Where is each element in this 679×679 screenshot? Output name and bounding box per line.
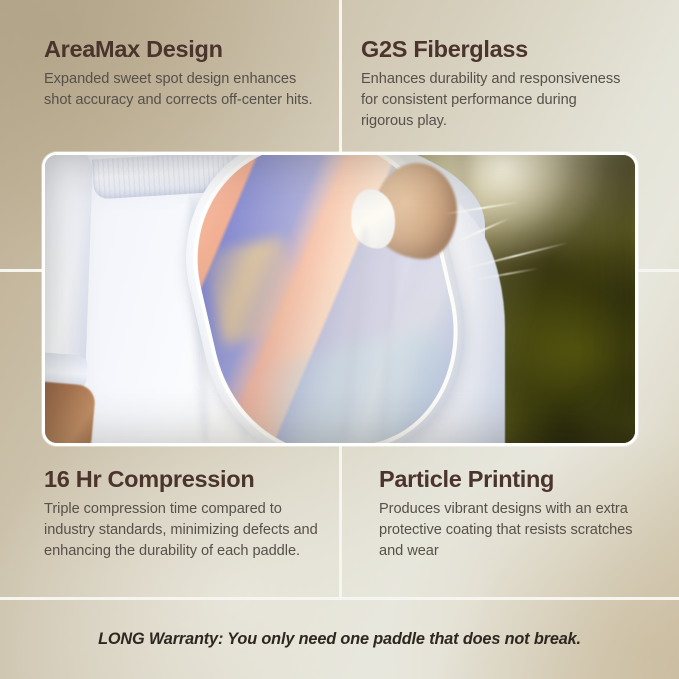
feature-description-particle-printing: Produces vibrant designs with an extra p… <box>379 499 647 562</box>
warranty-banner: LONG Warranty: You only need one paddle … <box>0 600 679 679</box>
feature-title-g2s-fiberglass: G2S Fiberglass <box>361 36 629 62</box>
feature-description-areamax-design: Expanded sweet spot design enhances shot… <box>44 69 316 111</box>
player-forearm <box>45 380 96 443</box>
feature-title-particle-printing: Particle Printing <box>379 466 647 492</box>
product-photo <box>45 155 635 443</box>
feature-title-areamax-design: AreaMax Design <box>44 36 316 62</box>
feature-block-areamax-design: AreaMax Design Expanded sweet spot desig… <box>44 36 316 111</box>
feature-block-16-hr-compression: 16 Hr Compression Triple compression tim… <box>44 466 322 562</box>
feature-block-g2s-fiberglass: G2S Fiberglass Enhances durability and r… <box>361 36 629 132</box>
product-photo-card <box>42 152 638 446</box>
feature-title-16-hr-compression: 16 Hr Compression <box>44 466 322 492</box>
feature-description-g2s-fiberglass: Enhances durability and responsiveness f… <box>361 69 629 132</box>
feature-block-particle-printing: Particle Printing Produces vibrant desig… <box>379 466 647 562</box>
feature-infographic: AreaMax Design Expanded sweet spot desig… <box>0 0 679 679</box>
warranty-banner-text: LONG Warranty: You only need one paddle … <box>98 630 581 649</box>
feature-description-16-hr-compression: Triple compression time compared to indu… <box>44 499 322 562</box>
